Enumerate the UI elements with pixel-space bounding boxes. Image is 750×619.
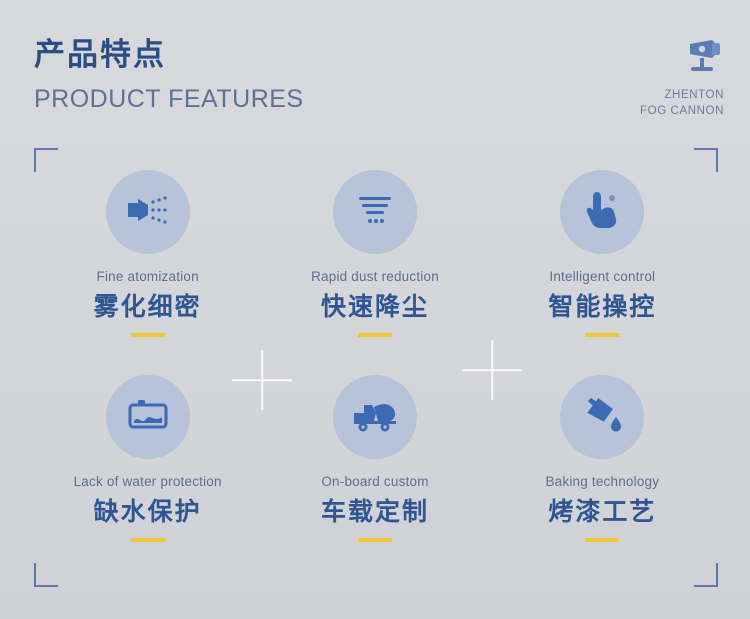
paint-bucket-icon — [578, 393, 626, 442]
feature-label-cn: 缺水保护 — [94, 496, 202, 528]
feature-underline — [585, 333, 619, 337]
feature-label-en: Intelligent control — [549, 268, 655, 286]
fog-cannon-icon — [640, 38, 724, 81]
feature-label-en: Fine atomization — [97, 268, 199, 286]
feature-label-cn: 车载定制 — [321, 496, 429, 528]
feature-icon-circle — [333, 170, 417, 254]
page-header: 产品特点 PRODUCT FEATURES ZHENTON FOG CANNON — [34, 36, 724, 126]
feature-underline — [585, 538, 619, 542]
feature-underline — [131, 333, 165, 337]
feature-underline — [358, 538, 392, 542]
page-title-en: PRODUCT FEATURES — [34, 82, 724, 116]
page-title-cn: 产品特点 — [34, 36, 724, 74]
feature-icon-circle — [333, 375, 417, 459]
feature-label-cn: 快速降尘 — [321, 291, 429, 323]
feature-label-cn: 雾化细密 — [94, 291, 202, 323]
brand-product: FOG CANNON — [640, 103, 724, 119]
feature-label-en: Rapid dust reduction — [311, 268, 439, 286]
feature-underline — [358, 333, 392, 337]
feature-cell-on-board-custom: On-board custom 车载定制 — [261, 365, 488, 570]
feature-cell-fine-atomization: Fine atomization 雾化细密 — [34, 160, 261, 365]
page-root: 产品特点 PRODUCT FEATURES ZHENTON FOG CANNON — [0, 0, 750, 619]
dust-reduction-icon — [351, 189, 399, 236]
feature-underline — [131, 538, 165, 542]
feature-icon-circle — [560, 170, 644, 254]
mixer-truck-icon — [350, 395, 400, 440]
brand-name: ZHENTON — [640, 87, 724, 103]
feature-label-cn: 智能操控 — [548, 291, 656, 323]
feature-icon-circle — [560, 375, 644, 459]
feature-cell-rapid-dust-reduction: Rapid dust reduction 快速降尘 — [261, 160, 488, 365]
feature-icon-circle — [106, 375, 190, 459]
feature-cell-intelligent-control: Intelligent control 智能操控 — [489, 160, 716, 365]
feature-label-cn: 烤漆工艺 — [548, 496, 656, 528]
feature-icon-circle — [106, 170, 190, 254]
hand-touch-icon — [579, 188, 625, 237]
feature-label-en: Baking technology — [545, 473, 659, 491]
feature-label-en: On-board custom — [321, 473, 428, 491]
feature-label-en: Lack of water protection — [74, 473, 222, 491]
features-grid: Fine atomization 雾化细密 Rapid dust reduc — [34, 160, 716, 570]
feature-cell-baking-technology: Baking technology 烤漆工艺 — [489, 365, 716, 570]
water-tank-icon — [124, 395, 172, 440]
feature-cell-lack-of-water-protection: Lack of water protection 缺水保护 — [34, 365, 261, 570]
spray-nozzle-icon — [124, 189, 172, 236]
brand-block: ZHENTON FOG CANNON — [640, 38, 724, 119]
